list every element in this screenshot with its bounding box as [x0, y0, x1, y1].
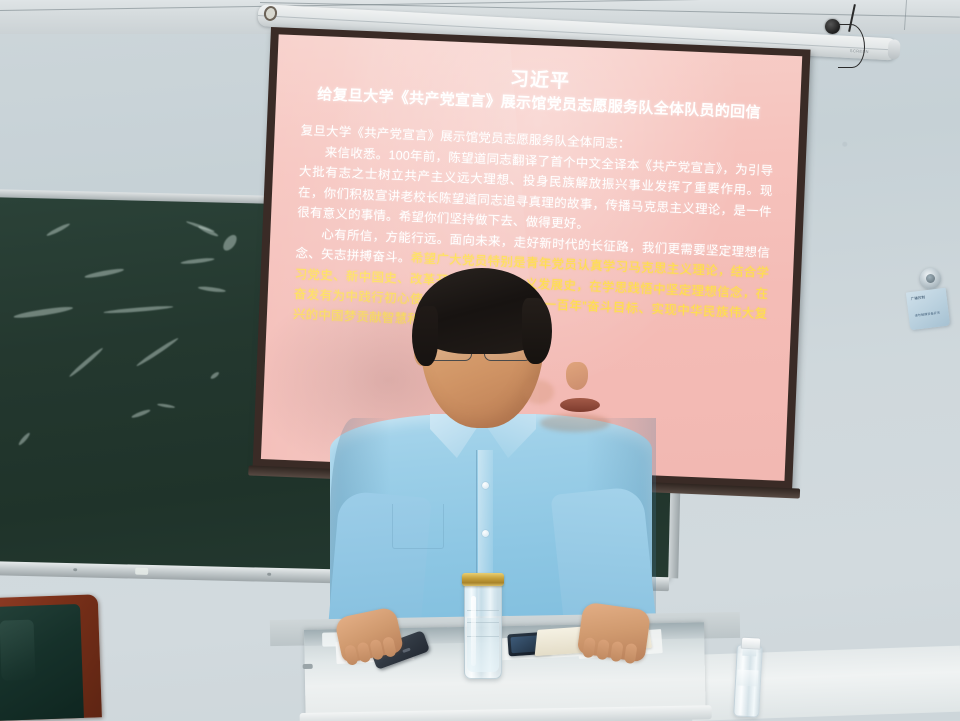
chalk-smudge [84, 267, 124, 279]
chalk-smudge [221, 233, 240, 253]
bottle-cap[interactable] [462, 573, 504, 586]
chalk-smudge [68, 347, 104, 379]
roller-end-cap [888, 39, 901, 60]
remote-button [402, 648, 411, 654]
ceiling-seam [0, 0, 960, 11]
chalk-smudge [17, 432, 31, 447]
hair-side-left [412, 306, 438, 366]
finger [624, 643, 638, 664]
chalk-smudge [198, 286, 226, 294]
chalk-smudge [135, 337, 179, 368]
classroom-photo-scene: SCREEN [0, 0, 960, 721]
right-hand [577, 602, 652, 663]
side-table [690, 646, 960, 721]
podium-front-edge [300, 705, 712, 721]
shirt-button [482, 530, 489, 537]
chair-cushion [0, 604, 84, 721]
chalk-stick [135, 568, 148, 575]
tray-screw [267, 573, 271, 576]
glass-water-bottle[interactable] [464, 583, 502, 679]
finger [582, 637, 596, 658]
bottle-label [737, 669, 759, 686]
wall-control-panel[interactable]: 广播控制 请勿触摸设备开关 [906, 288, 950, 331]
tray-screw [73, 568, 77, 571]
cheek-shading [524, 380, 554, 404]
chalk-smudge [13, 305, 73, 320]
nose [566, 362, 588, 390]
wall-panel-line-2: 请勿触摸设备开关 [914, 311, 940, 318]
finger [382, 636, 397, 658]
bottle-cap[interactable] [741, 637, 762, 650]
wall-knob-center [926, 274, 935, 283]
plastic-water-bottle[interactable] [733, 644, 763, 717]
chalk-smudge [103, 305, 173, 315]
chalk-smudge [210, 371, 220, 380]
chin-shading [540, 414, 610, 432]
chair-highlight [0, 620, 36, 681]
shirt-pocket [392, 504, 444, 549]
mouth [560, 398, 600, 412]
chalk-smudge [186, 220, 215, 233]
power-cable [838, 24, 865, 68]
wall-knob-icon[interactable] [920, 268, 941, 289]
shirt-button [482, 482, 489, 489]
chair[interactable] [0, 594, 102, 721]
chalk-smudge [180, 257, 214, 265]
finger [610, 641, 624, 662]
chalk-smudge [157, 403, 175, 409]
bottle-highlight [471, 596, 476, 666]
chalk-smudge [131, 408, 151, 419]
chalk-smudge [46, 222, 71, 237]
hair-side-right [522, 298, 552, 364]
podium-latch [303, 664, 313, 669]
finger [596, 639, 610, 660]
wall-panel-line-1: 广播控制 [910, 295, 925, 302]
